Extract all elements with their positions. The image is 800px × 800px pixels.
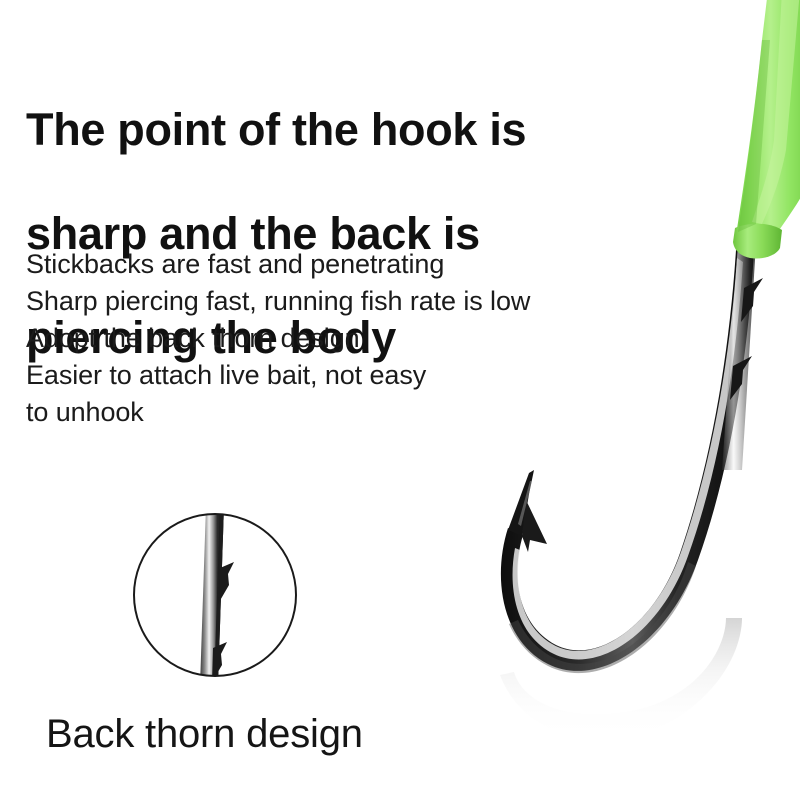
hook-point	[508, 30, 547, 552]
callout-content	[132, 512, 298, 678]
hook-product-photo	[430, 0, 800, 800]
hook-metal-body	[501, 250, 754, 673]
product-feature-image: The point of the hook is sharp and the b…	[0, 0, 800, 800]
green-handle	[733, 0, 800, 259]
callout-caption: Back thorn design	[46, 710, 363, 758]
bend-highlight	[513, 258, 743, 660]
barb-detail-callout	[132, 512, 298, 678]
hook-wire	[501, 250, 754, 671]
hook-point-barb	[522, 500, 547, 552]
